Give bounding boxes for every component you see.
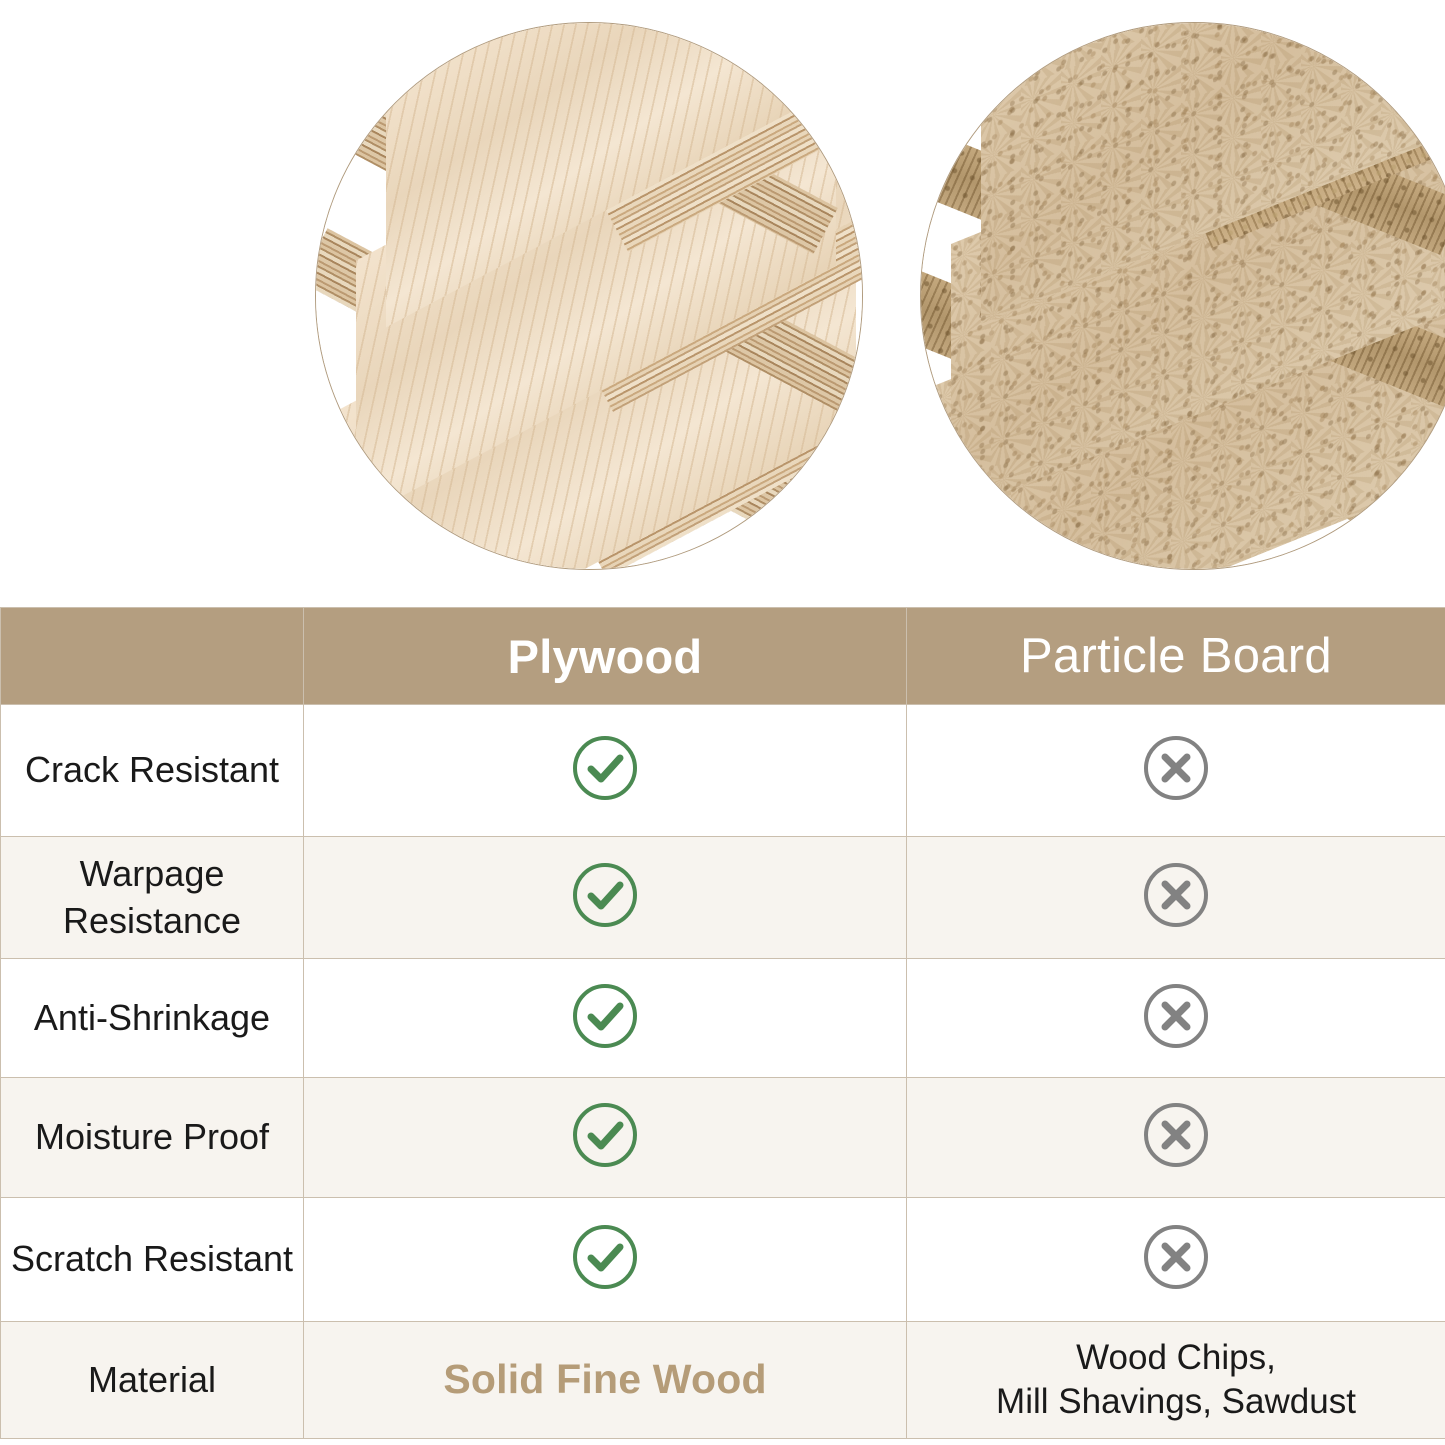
- cell-particle-board-moisture-proof: [907, 1078, 1445, 1198]
- table-row: Crack Resistant: [1, 705, 1445, 837]
- feature-label-anti-shrinkage: Anti-Shrinkage: [1, 959, 304, 1078]
- header-particle-board: Particle Board: [907, 608, 1445, 705]
- table-row: Material Solid Fine Wood Wood Chips, Mil…: [1, 1322, 1445, 1439]
- material-value-particle-board: Wood Chips, Mill Shavings, Sawdust: [907, 1336, 1445, 1424]
- table-header: Plywood Particle Board: [1, 608, 1445, 705]
- table-row: Scratch Resistant: [1, 1198, 1445, 1322]
- table-body: Crack Resistant: [1, 705, 1445, 1439]
- particle-board-photo: [920, 22, 1445, 570]
- photo-band: [0, 0, 1445, 607]
- header-feature-blank: [1, 608, 304, 705]
- feature-label-warpage-resistance: Warpage Resistance: [1, 837, 304, 959]
- cell-plywood-scratch-resistant: [304, 1198, 907, 1322]
- table-row: Moisture Proof: [1, 1078, 1445, 1198]
- plywood-photo: [315, 22, 863, 570]
- cell-plywood-warpage-resistance: [304, 837, 907, 959]
- feature-label-material: Material: [1, 1322, 304, 1439]
- check-circle-icon: [569, 1221, 641, 1293]
- table-row: Anti-Shrinkage: [1, 959, 1445, 1078]
- check-circle-icon: [569, 732, 641, 804]
- check-circle-icon: [569, 1099, 641, 1171]
- cross-circle-icon: [1140, 980, 1212, 1052]
- comparison-table: Plywood Particle Board Crack Resistant: [0, 607, 1445, 1439]
- cell-particle-board-warpage-resistance: [907, 837, 1445, 959]
- particle-board-photo-content: [921, 23, 1445, 569]
- table-header-row: Plywood Particle Board: [1, 608, 1445, 705]
- table-row: Warpage Resistance: [1, 837, 1445, 959]
- material-value-particle-board-line1: Wood Chips,: [907, 1336, 1445, 1380]
- material-value-particle-board-line2: Mill Shavings, Sawdust: [907, 1380, 1445, 1424]
- plywood-photo-content: [316, 23, 862, 569]
- cell-plywood-moisture-proof: [304, 1078, 907, 1198]
- material-value-plywood: Solid Fine Wood: [304, 1357, 906, 1402]
- cell-particle-board-crack-resistant: [907, 705, 1445, 837]
- feature-label-crack-resistant: Crack Resistant: [1, 705, 304, 837]
- feature-label-moisture-proof: Moisture Proof: [1, 1078, 304, 1198]
- cross-circle-icon: [1140, 859, 1212, 931]
- cell-plywood-anti-shrinkage: [304, 959, 907, 1078]
- check-circle-icon: [569, 980, 641, 1052]
- cross-circle-icon: [1140, 1099, 1212, 1171]
- cell-particle-board-material: Wood Chips, Mill Shavings, Sawdust: [907, 1322, 1445, 1439]
- header-plywood: Plywood: [304, 608, 907, 705]
- comparison-infographic: Plywood Particle Board Crack Resistant: [0, 0, 1445, 1445]
- cross-circle-icon: [1140, 1221, 1212, 1293]
- cross-circle-icon: [1140, 732, 1212, 804]
- cell-particle-board-scratch-resistant: [907, 1198, 1445, 1322]
- feature-label-scratch-resistant: Scratch Resistant: [1, 1198, 304, 1322]
- cell-plywood-crack-resistant: [304, 705, 907, 837]
- check-circle-icon: [569, 859, 641, 931]
- cell-plywood-material: Solid Fine Wood: [304, 1322, 907, 1439]
- cell-particle-board-anti-shrinkage: [907, 959, 1445, 1078]
